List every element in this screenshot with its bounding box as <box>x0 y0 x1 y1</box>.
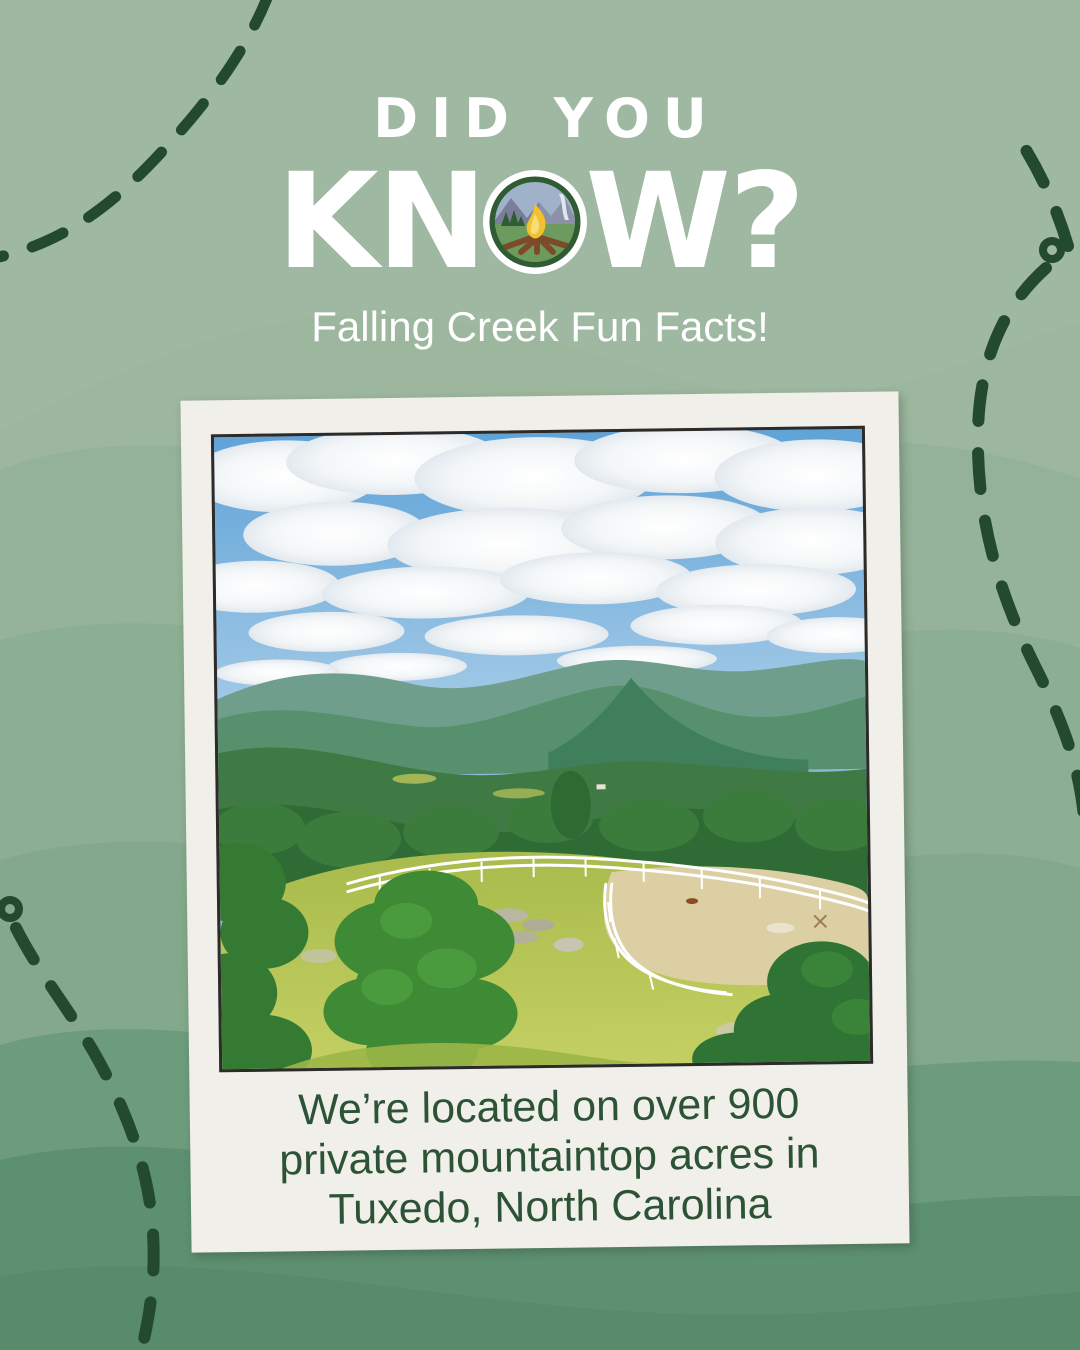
headline-know-row: KN <box>0 158 1080 286</box>
campfire-logo-badge <box>481 168 589 276</box>
header-block: DID YOU KN <box>0 0 1080 350</box>
caption-line-1: We’re located on over 900 <box>213 1078 884 1137</box>
headline-know-right: W? <box>585 158 803 286</box>
subtitle: Falling Creek Fun Facts! <box>0 286 1080 350</box>
caption-line-3: Tuxedo, North Carolina <box>215 1178 886 1237</box>
photo-frame <box>211 426 873 1073</box>
eyebrow-did-you: DID YOU <box>0 0 1080 146</box>
caption-block: We’re located on over 900 private mounta… <box>213 1078 885 1237</box>
polaroid-card: We’re located on over 900 private mounta… <box>180 391 909 1252</box>
campfire-logo-badge-art <box>481 168 589 276</box>
poster-canvas: DID YOU KN <box>0 0 1080 1350</box>
headline-know-left: KN <box>277 158 486 286</box>
landscape-photo <box>214 429 870 1069</box>
caption-line-2: private mountaintop acres in <box>214 1128 885 1187</box>
